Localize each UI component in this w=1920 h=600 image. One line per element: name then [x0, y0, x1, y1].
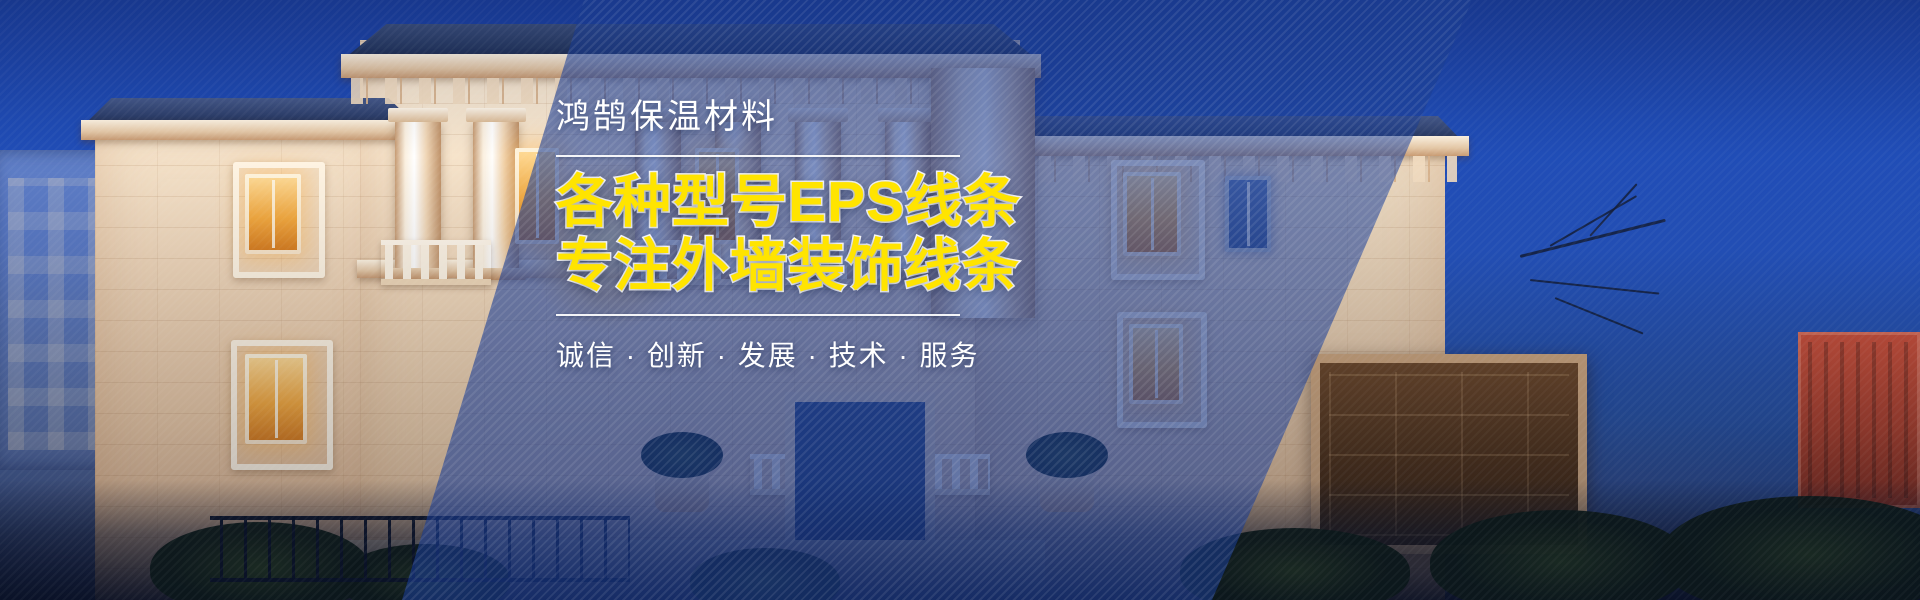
tagline: 诚信 · 创新 · 发展 · 技术 · 服务 — [556, 334, 1036, 374]
bare-tree — [1340, 205, 1660, 405]
divider-top — [556, 155, 960, 157]
balustrade — [381, 240, 491, 285]
divider-bottom — [556, 314, 960, 316]
shrub — [1430, 510, 1690, 600]
shrub — [1660, 496, 1920, 600]
cornice-left — [81, 120, 419, 140]
headline-line-1: 各种型号EPS线条 — [556, 171, 1036, 234]
hero-banner: 鸿鹄保温材料 各种型号EPS线条 专注外墙装饰线条 诚信 · 创新 · 发展 ·… — [0, 0, 1920, 600]
headline-line-2: 专注外墙装饰线条 — [556, 235, 1036, 298]
banner-copy: 鸿鹄保温材料 各种型号EPS线条 专注外墙装饰线条 诚信 · 创新 · 发展 ·… — [556, 96, 1036, 374]
window-surround — [233, 162, 325, 278]
window-surround — [231, 340, 333, 470]
brand-name: 鸿鹄保温材料 — [556, 96, 1036, 139]
